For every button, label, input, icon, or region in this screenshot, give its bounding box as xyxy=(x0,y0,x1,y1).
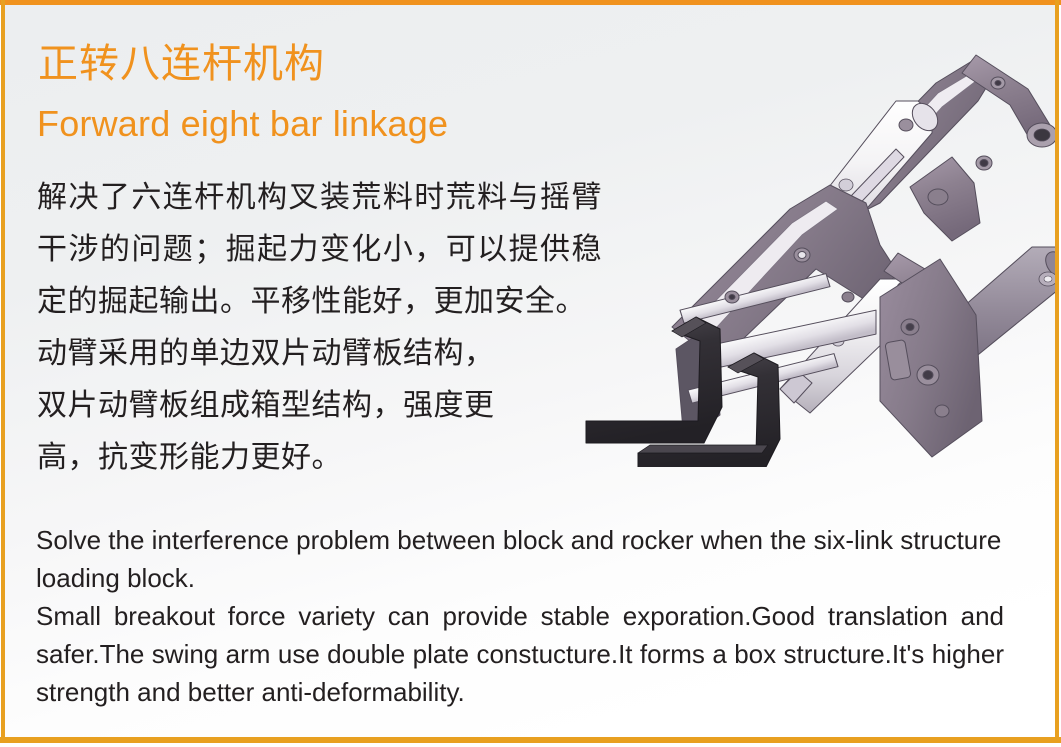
body-en-paragraph-1: Solve the interference problem between b… xyxy=(36,521,1004,597)
slide-root: 正转八连杆机构 Forward eight bar linkage 解决了六连杆… xyxy=(0,0,1061,747)
linkage-cad-illustration xyxy=(580,5,1055,467)
frame-rule-right xyxy=(1055,0,1059,740)
fork-rear xyxy=(586,317,722,443)
body-cn-paragraph-2-line-2: 双片动臂板组成箱型结构，强度更 xyxy=(37,380,602,432)
body-text-cn: 解决了六连杆机构叉装荒料时荒料与摇臂干涉的问题；掘起力变化小，可以提供稳定的掘起… xyxy=(37,172,602,484)
body-text-en: Solve the interference problem between b… xyxy=(36,521,1004,711)
body-cn-paragraph-2-line-3: 高，抗变形能力更好。 xyxy=(37,432,602,484)
body-cn-paragraph-2-line-1: 动臂采用的单边双片动臂板结构， xyxy=(37,328,602,380)
frame-rule-bottom xyxy=(0,737,1061,743)
page-title-en: Forward eight bar linkage xyxy=(37,103,448,145)
slide-canvas: 正转八连杆机构 Forward eight bar linkage 解决了六连杆… xyxy=(5,5,1055,737)
page-title-cn: 正转八连杆机构 xyxy=(38,41,325,87)
body-en-paragraph-2: Small breakout force variety can provide… xyxy=(36,597,1004,711)
body-cn-paragraph-1: 解决了六连杆机构叉装荒料时荒料与摇臂干涉的问题；掘起力变化小，可以提供稳定的掘起… xyxy=(37,172,602,328)
